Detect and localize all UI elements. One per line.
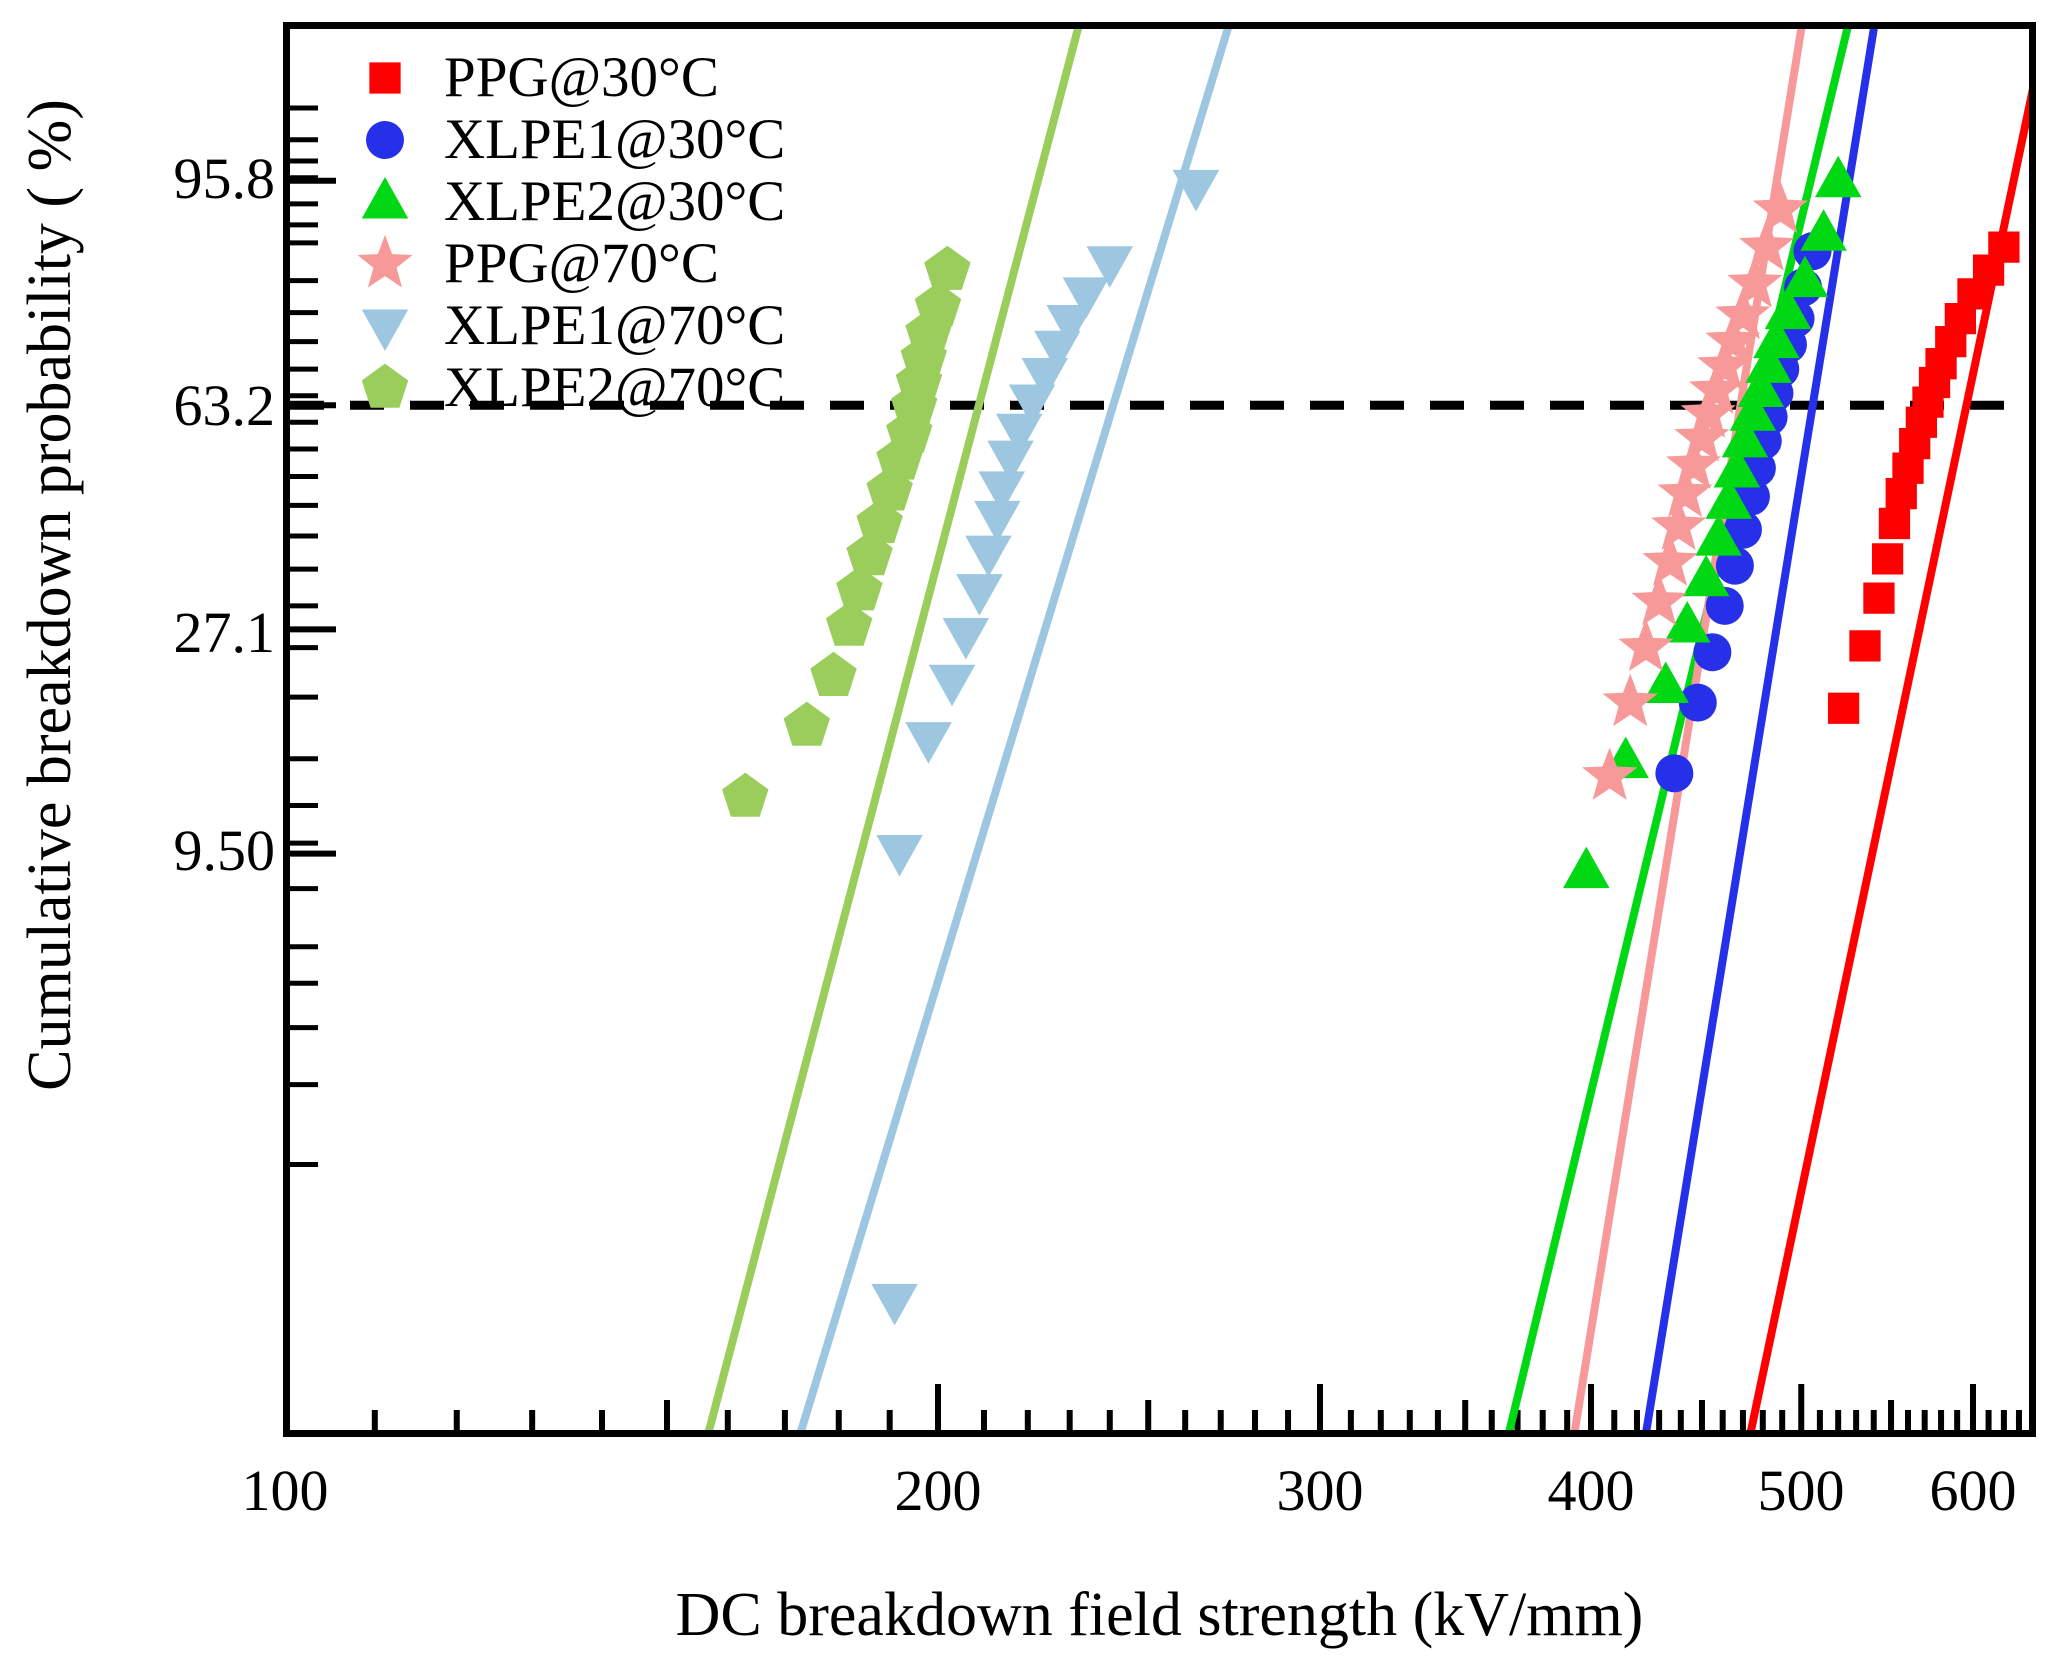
data-point	[722, 773, 768, 817]
y-tick-label-950: 9.50	[25, 822, 275, 880]
y-tick-label-632: 63.2	[25, 377, 275, 435]
data-point	[1863, 583, 1894, 614]
fit-line	[1121, 29, 2029, 1430]
data-point	[810, 652, 856, 696]
legend-item-label: XLPE1@30°C	[420, 109, 785, 171]
data-point	[1655, 754, 1693, 792]
legend-item-label: XLPE1@70°C	[420, 295, 785, 357]
legend-item-1[interactable]: XLPE1@30°C	[350, 109, 990, 171]
x-tick-label-400: 400	[1481, 1462, 1701, 1520]
y-axis-tick-labels: 95.8 63.2 27.1 9.50	[0, 0, 275, 1677]
data-point	[965, 536, 1012, 578]
legend-item-label: PPG@30°C	[420, 47, 719, 109]
y-tick-label-271: 27.1	[25, 604, 275, 662]
chart-legend: PPG@30°CXLPE1@30°CXLPE2@30°CPPG@70°CXLPE…	[350, 47, 990, 419]
legend-item-label: PPG@70°C	[420, 233, 719, 295]
data-point	[956, 574, 1003, 616]
data-point	[943, 618, 990, 660]
weibull-probability-chart: Cumulative breakdown probability ( %) 95…	[0, 0, 2055, 1677]
fit-line	[1315, 29, 2029, 1430]
series-2	[1121, 29, 2029, 1430]
legend-item-0[interactable]: PPG@30°C	[350, 47, 990, 109]
legend-item-4[interactable]: XLPE1@70°C	[350, 295, 990, 357]
x-axis-title: DC breakdown field strength (kV/mm)	[283, 1575, 2036, 1655]
x-tick-label-200: 200	[828, 1462, 1048, 1520]
x-tick-label-300: 300	[1210, 1462, 1430, 1520]
triangle-up-marker-icon	[350, 171, 420, 233]
series-3	[1315, 29, 2029, 1430]
data-point	[871, 1284, 918, 1326]
square-marker-icon	[350, 47, 420, 109]
data-point	[1603, 674, 1658, 726]
data-point	[905, 722, 952, 764]
plot-area: PPG@30°CXLPE1@30°CXLPE2@30°CPPG@70°CXLPE…	[283, 22, 2036, 1437]
circle-marker-icon	[350, 109, 420, 171]
data-point	[1872, 543, 1903, 574]
fit-line	[1385, 29, 2029, 1430]
legend-item-2[interactable]: XLPE2@30°C	[350, 171, 990, 233]
x-axis-tick-labels: 100 200 300 400 500 600	[0, 1462, 2055, 1542]
y-tick-label-958: 95.8	[25, 150, 275, 208]
series-0	[1413, 29, 2029, 1430]
series-1	[1385, 29, 2029, 1430]
data-point	[1849, 630, 1880, 661]
x-tick-label-100: 100	[175, 1462, 395, 1520]
legend-item-3[interactable]: PPG@70°C	[350, 233, 990, 295]
legend-item-5[interactable]: XLPE2@70°C	[350, 357, 990, 419]
data-point	[1563, 847, 1610, 889]
data-point	[784, 702, 830, 746]
legend-item-label: XLPE2@70°C	[420, 357, 785, 419]
triangle-down-marker-icon	[350, 295, 420, 357]
data-point	[1828, 693, 1859, 724]
data-point	[1988, 231, 2019, 262]
data-point	[876, 835, 923, 877]
legend-item-label: XLPE2@30°C	[420, 171, 785, 233]
star-marker-icon	[350, 233, 420, 295]
fit-line	[1413, 29, 2029, 1430]
pentagon-marker-icon	[350, 357, 420, 419]
data-point	[929, 665, 976, 707]
x-tick-label-600: 600	[1863, 1462, 2055, 1520]
data-point	[1879, 508, 1910, 539]
